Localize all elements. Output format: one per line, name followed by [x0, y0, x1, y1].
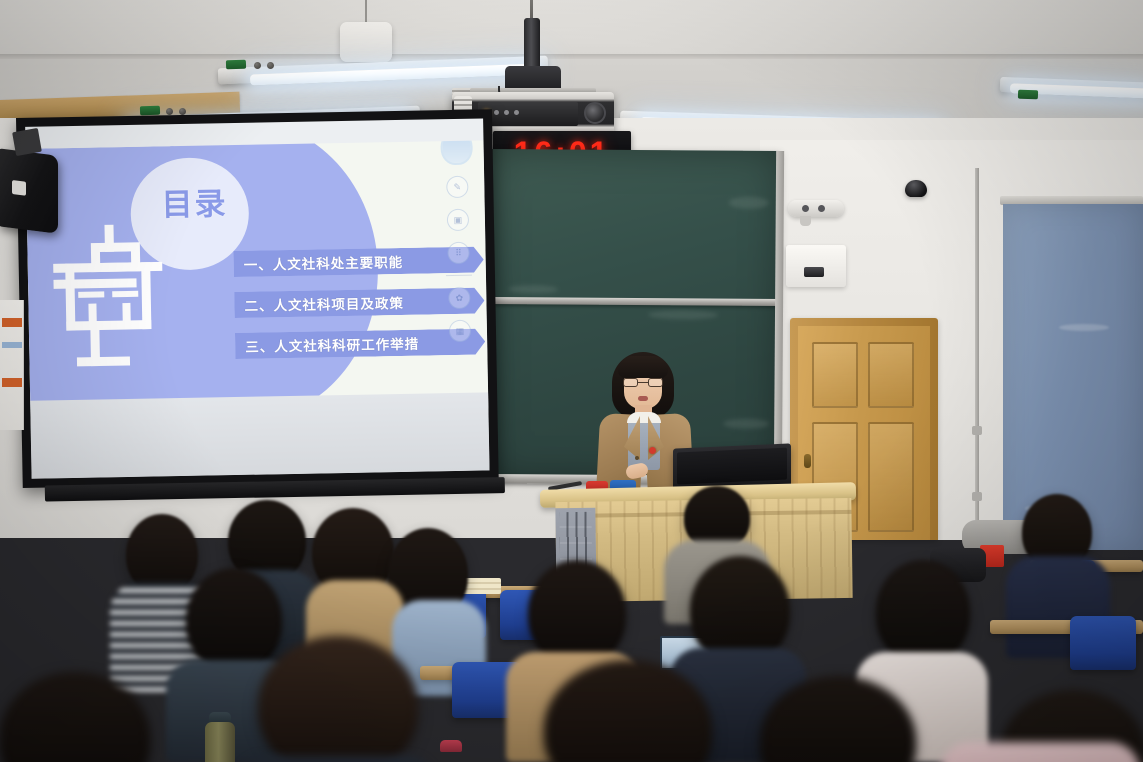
projector-led-4 — [514, 110, 519, 115]
grid-apps-icon[interactable]: ⠿ — [447, 242, 469, 264]
presenter-fringe — [618, 356, 668, 378]
speaker-bracket — [12, 128, 42, 156]
chalk-smudge-3 — [508, 285, 558, 293]
slide-logo-mark — [49, 220, 170, 382]
ceiling-sensor-bar — [788, 200, 844, 217]
speaker-badge-icon — [12, 180, 26, 196]
ceiling-slab — [0, 0, 1143, 58]
glasses-lens-left — [623, 378, 638, 387]
classroom-scene: 16:01 目录 — [0, 0, 1143, 762]
monitor-display-area — [677, 448, 787, 485]
thermos-bottle — [205, 722, 235, 762]
light-cap-4 — [1018, 90, 1038, 100]
door-panel-tl — [812, 342, 858, 408]
projected-slide: 目录 — [26, 140, 489, 416]
chalk-smudge-4 — [723, 419, 769, 429]
blazer-button-1 — [635, 456, 639, 460]
light-dot-1a — [166, 108, 173, 115]
sensor-stub — [800, 216, 811, 226]
blind-mark-1 — [1059, 324, 1109, 331]
ceiling-edge — [0, 54, 1143, 59]
projector-led-3 — [504, 110, 509, 115]
screen-surface: 目录 — [25, 118, 489, 478]
wifi-hanger-wire — [365, 0, 367, 24]
audience-head-m4 — [876, 560, 970, 664]
light-dot-2a — [254, 62, 261, 69]
audience-head-m1 — [186, 568, 282, 672]
screen-unlit-area — [30, 392, 489, 478]
toolbar-divider — [446, 275, 472, 276]
chalk-smudge-1 — [729, 197, 769, 209]
poster-band-mid — [2, 342, 22, 348]
audience-head-m2 — [528, 560, 626, 666]
qr-code-icon[interactable]: ▦ — [449, 320, 471, 342]
wall-control-panel[interactable] — [786, 245, 846, 287]
pink-bottle-cap — [440, 740, 462, 752]
poster-band-bottom — [2, 378, 22, 387]
audience-body-f3 — [940, 742, 1140, 762]
glasses-bridge — [638, 382, 648, 383]
presenter-badge-pin — [649, 447, 656, 454]
door-panel-br — [868, 422, 914, 532]
light-cap-2 — [226, 60, 246, 70]
presenter-collar — [627, 412, 661, 423]
wall-conduit-pipe — [975, 168, 979, 538]
pen-annotate-icon[interactable]: ✎ — [446, 176, 468, 198]
agenda-item-2-label: 二、人文社科项目及政策 — [234, 292, 404, 315]
image-icon[interactable]: ▣ — [447, 209, 469, 231]
conference-toolbar[interactable]: ✎ ▣ ⠿ ✿ ▦ — [439, 140, 477, 342]
door-handle-icon[interactable] — [804, 454, 811, 468]
eyeglasses-icon — [623, 378, 663, 387]
agenda-item-3-label: 三、人文社科科研工作举措 — [235, 333, 419, 356]
wall-speaker — [0, 148, 58, 233]
wifi-access-point-icon — [340, 22, 392, 62]
light-dot-2b — [267, 62, 274, 69]
settings-icon[interactable]: ✿ — [448, 287, 470, 309]
slide-title: 目录 — [161, 178, 228, 224]
glasses-lens-right — [648, 378, 663, 387]
chalkboard-rail-middle — [488, 297, 780, 306]
door-panel-tr — [868, 342, 914, 408]
presenter-mouth — [638, 396, 648, 401]
projector-led-2 — [494, 110, 499, 115]
control-panel-slot-icon — [804, 267, 824, 277]
chair-mid-2 — [1070, 616, 1136, 670]
projection-screen: 目录 — [16, 109, 499, 488]
poster-band-top — [2, 318, 22, 327]
projector-lens-icon — [584, 102, 606, 124]
mascot-avatar-icon — [440, 140, 473, 165]
conduit-joint-1 — [972, 426, 982, 435]
wall-poster — [0, 300, 24, 430]
chalk-smudge-2 — [648, 310, 718, 319]
agenda-item-1-label: 一、人文社科处主要职能 — [234, 251, 404, 274]
light-cap-1 — [140, 106, 160, 116]
conduit-joint-2 — [972, 492, 982, 501]
audience-body-f1 — [236, 756, 436, 762]
dome-security-camera-icon — [905, 180, 927, 197]
